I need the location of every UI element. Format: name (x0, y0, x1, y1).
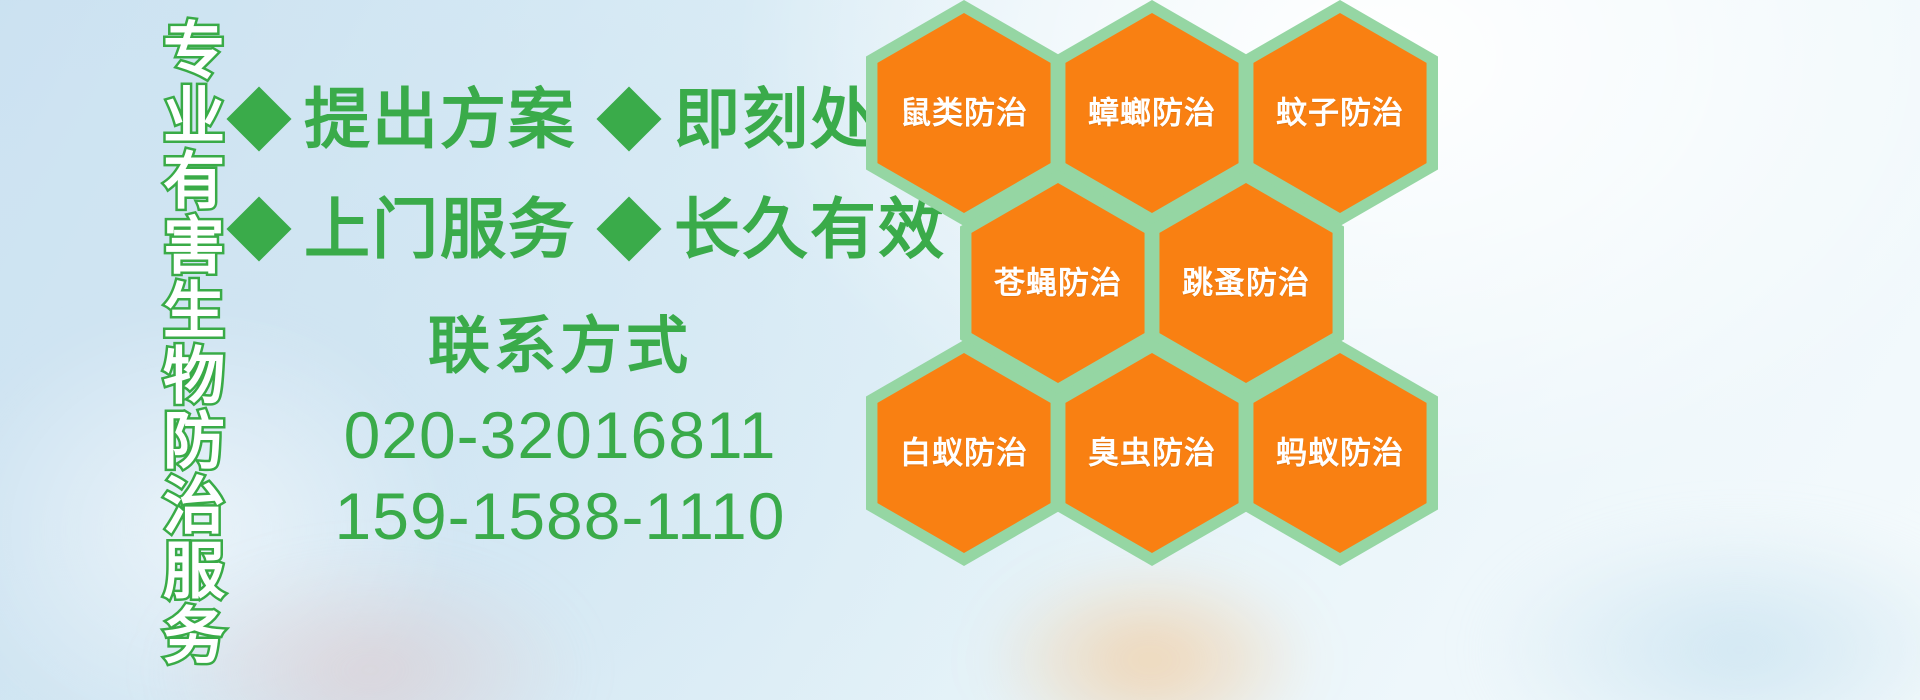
background-blur-bottom-left (160, 560, 580, 700)
feature-row-1: 提出方案 即刻处理 (236, 86, 946, 152)
service-honeycomb: 鼠类防治 蟑螂防治 蚊子防治 苍蝇防治 跳蚤防治 白蚁防治 (860, 0, 1480, 546)
pest-control-banner: 专业有害生物防治服务 提出方案 即刻处理 上门服务 长久有效 联系方式 020-… (0, 0, 1920, 700)
hex-label: 鼠类防治 (866, 98, 1062, 129)
contact-title: 联系方式 (300, 312, 820, 381)
hex-service-ant[interactable]: 蚂蚁防治 (1242, 340, 1438, 566)
hex-label: 臭虫防治 (1054, 438, 1250, 469)
phone-mobile[interactable]: 159-1588-1110 (300, 476, 820, 557)
hex-label: 蚂蚁防治 (1242, 438, 1438, 469)
feature-row-2: 上门服务 长久有效 (236, 196, 946, 262)
hex-label: 苍蝇防治 (960, 268, 1156, 299)
feature-label: 提出方案 (304, 86, 576, 152)
feature-item-propose-plan: 提出方案 (236, 86, 576, 152)
diamond-icon (596, 86, 661, 151)
diamond-icon (596, 196, 661, 261)
hex-label: 白蚁防治 (866, 438, 1062, 469)
feature-label: 上门服务 (304, 196, 576, 262)
hex-label: 跳蚤防治 (1148, 268, 1344, 299)
phone-landline[interactable]: 020-32016811 (300, 395, 820, 476)
diamond-icon (226, 86, 291, 151)
contact-block: 联系方式 020-32016811 159-1588-1110 (300, 312, 820, 556)
hex-service-bedbug[interactable]: 臭虫防治 (1054, 340, 1250, 566)
vertical-headline: 专业有害生物防治服务 (106, 18, 218, 578)
feature-item-onsite-service: 上门服务 (236, 196, 576, 262)
hex-label: 蚊子防治 (1242, 98, 1438, 129)
diamond-icon (226, 196, 291, 261)
background-blur-bottom-center (980, 560, 1320, 700)
background-blur-bottom-right (1480, 520, 1920, 700)
hex-service-termite[interactable]: 白蚁防治 (866, 340, 1062, 566)
hex-label: 蟑螂防治 (1054, 98, 1250, 129)
